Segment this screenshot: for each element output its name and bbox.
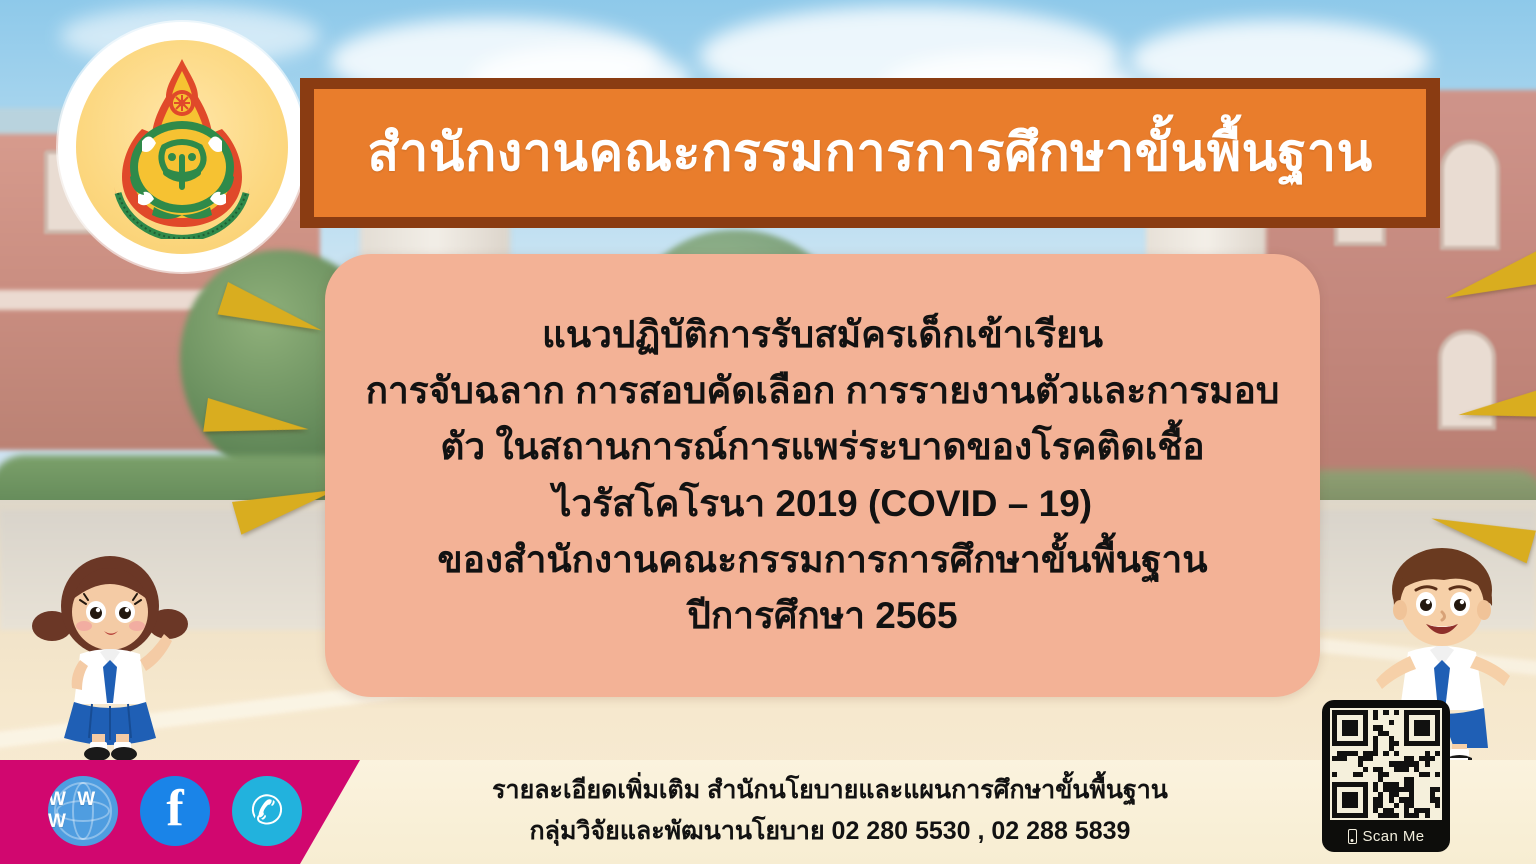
announcement-line-6: ปีการศึกษา 2565 xyxy=(687,588,957,644)
header-banner: สำนักงานคณะกรรมการการศึกษาขั้นพื้นฐาน xyxy=(300,78,1440,228)
footer-line-1: รายละเอียดเพิ่มเติม สำนักนโยบายและแผนการ… xyxy=(420,770,1240,811)
cartoon-schoolgirl xyxy=(30,538,190,760)
emblem-disc xyxy=(76,40,288,254)
telephone-icon-label: ✆ xyxy=(248,789,287,833)
header-title: สำนักงานคณะกรรมการการศึกษาขั้นพื้นฐาน xyxy=(367,127,1372,179)
announcement-line-5: ของสำนักงานคณะกรรมการการศึกษาขั้นพื้นฐาน xyxy=(437,532,1207,588)
header-banner-inner: สำนักงานคณะกรรมการการศึกษาขั้นพื้นฐาน xyxy=(314,89,1426,217)
announcement-line-1: แนวปฏิบัติการรับสมัครเด็กเข้าเรียน xyxy=(542,307,1103,363)
announcement-line-2: การจับฉลาก การสอบคัดเลือก การรายงานตัวแล… xyxy=(366,363,1280,419)
phone-icon xyxy=(1348,829,1357,844)
facebook-icon[interactable]: f xyxy=(140,776,210,846)
telephone-icon[interactable]: ✆ xyxy=(232,776,302,846)
website-icon-label: W W W xyxy=(48,789,118,833)
announcement-line-3: ตัว ในสถานการณ์การแพร่ระบาดของโรคติดเชื้… xyxy=(440,419,1204,475)
qr-code[interactable]: Scan Me xyxy=(1322,700,1450,852)
obec-emblem-logo xyxy=(58,22,306,272)
obec-crest-icon xyxy=(94,55,270,239)
footer-line-2: กลุ่มวิจัยและพัฒนานโยบาย 02 280 5530 , 0… xyxy=(420,811,1240,852)
qr-code-label-row: Scan Me xyxy=(1330,820,1442,852)
facebook-icon-label: f xyxy=(166,788,183,830)
footer-contact-text: รายละเอียดเพิ่มเติม สำนักนโยบายและแผนการ… xyxy=(420,770,1240,851)
qr-code-modules xyxy=(1330,708,1442,820)
building-window xyxy=(1440,140,1500,250)
social-icon-group: W W W f ✆ xyxy=(48,776,302,846)
qr-code-label: Scan Me xyxy=(1363,828,1425,845)
poster-canvas: สำนักงานคณะกรรมการการศึกษาขั้นพื้นฐาน แน… xyxy=(0,0,1536,864)
announcement-line-4: ไวรัสโคโรนา 2019 (COVID – 19) xyxy=(553,476,1092,532)
website-icon[interactable]: W W W xyxy=(48,776,118,846)
announcement-card: แนวปฏิบัติการรับสมัครเด็กเข้าเรียน การจั… xyxy=(325,254,1320,697)
